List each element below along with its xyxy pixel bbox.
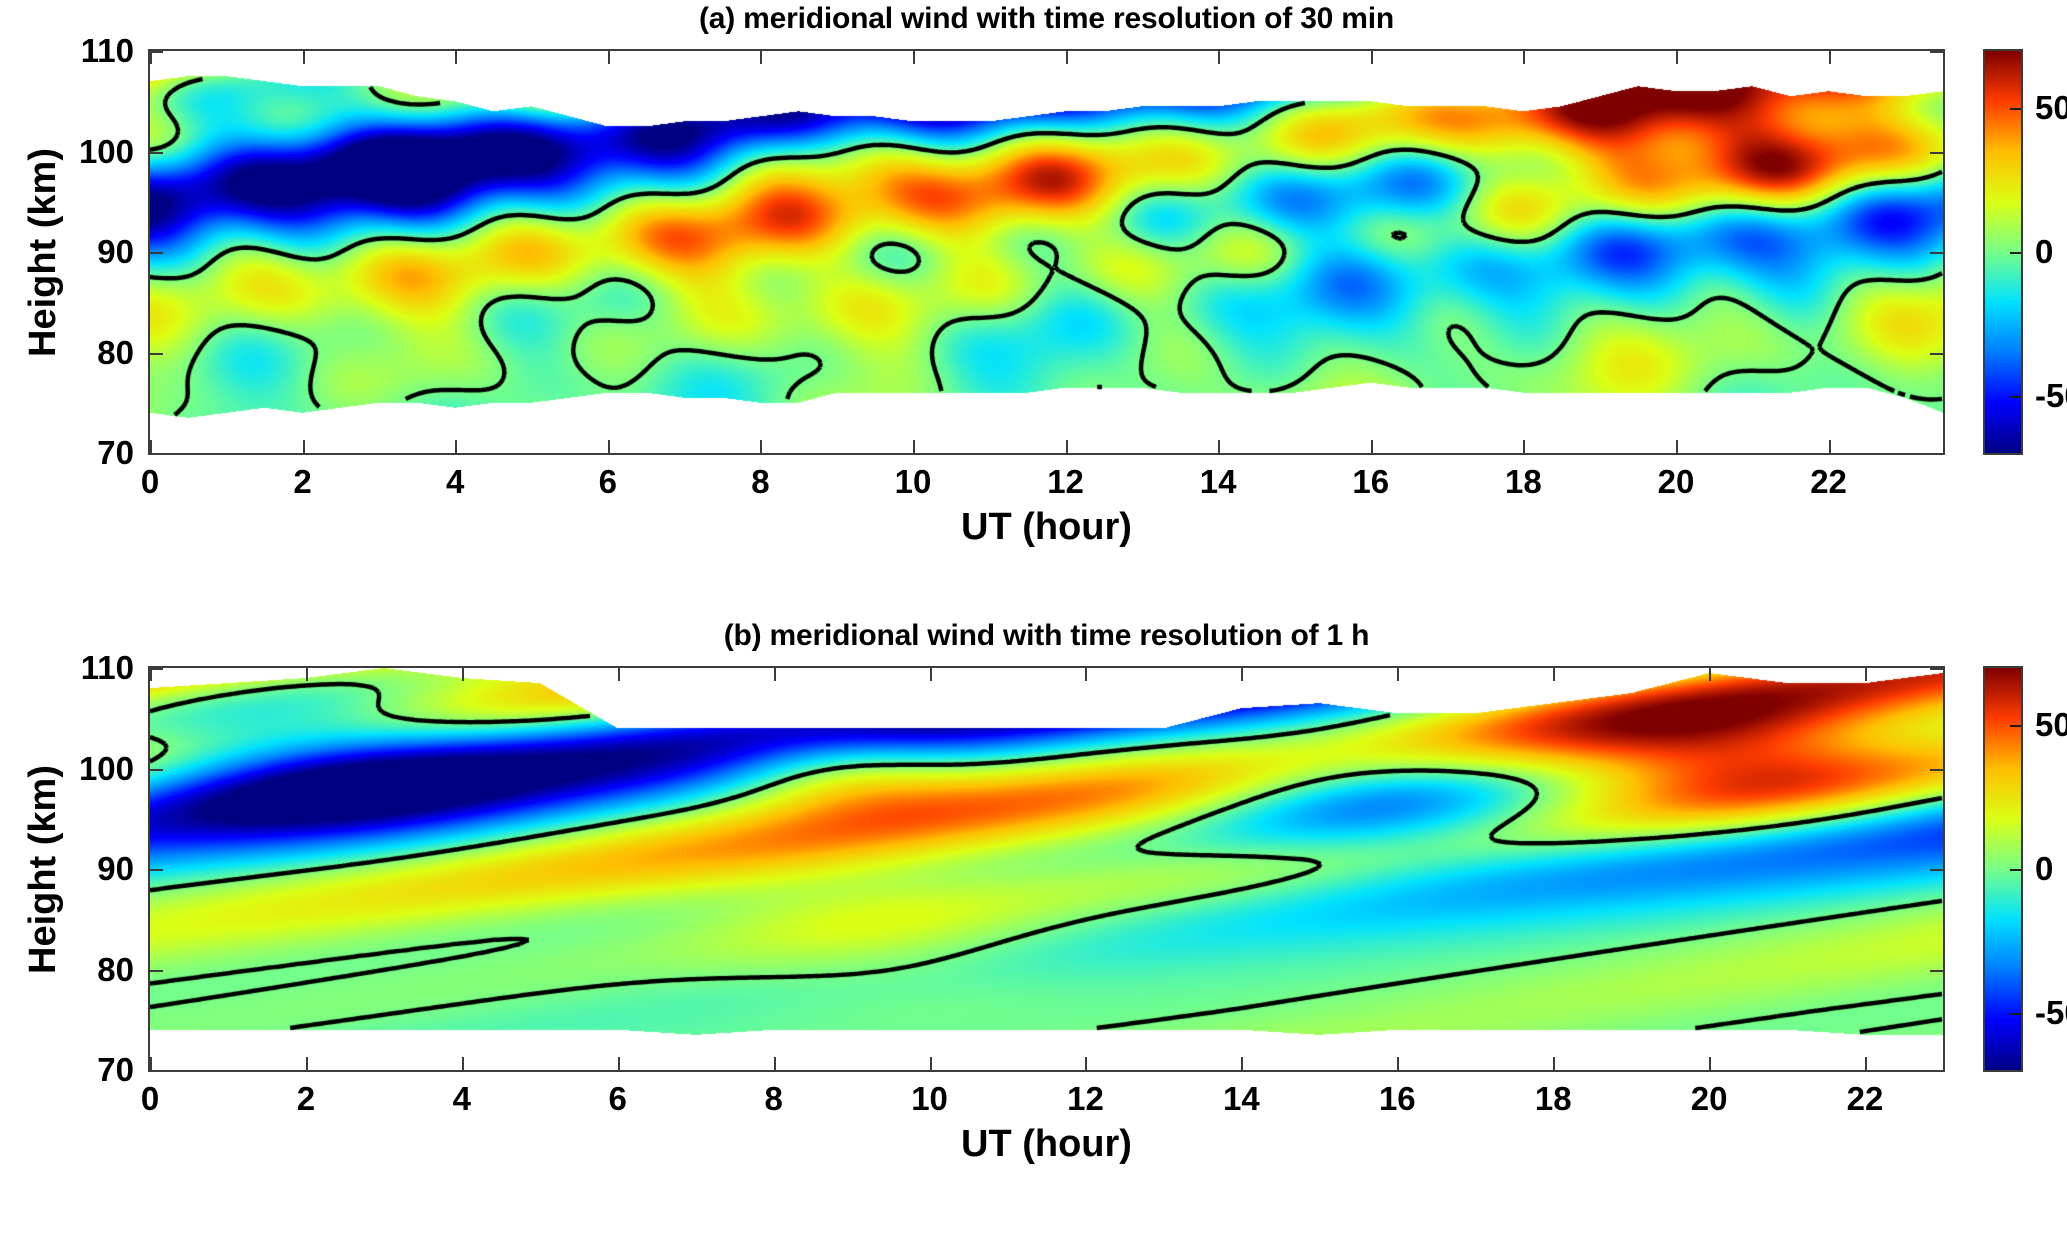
panel-b-yticklabel: 100 xyxy=(56,750,134,788)
colorbar-tick xyxy=(2010,396,2021,398)
colorbar-label: -50 xyxy=(2035,994,2067,1032)
panel-a-title: (a) meridional wind with time resolution… xyxy=(148,2,1945,36)
panel-b-xtick xyxy=(1865,1057,1867,1070)
panel-b-yticklabel: 90 xyxy=(56,850,134,888)
panel-b-xtick xyxy=(774,668,776,681)
panel-b-ytick xyxy=(150,1070,163,1072)
colorbar-tick xyxy=(2010,869,2021,871)
panel-a-yticklabel: 110 xyxy=(56,32,134,70)
panel-a-xtick xyxy=(455,440,457,453)
colorbar-label: -50 xyxy=(2035,377,2067,415)
panel-a-xticklabel: 16 xyxy=(1352,463,1389,501)
panel-a-xtick xyxy=(1523,51,1525,64)
panel-b-colorbar xyxy=(1983,666,2023,1072)
panel-a-xticklabel: 22 xyxy=(1810,463,1847,501)
panel-a-xtick xyxy=(608,440,610,453)
panel-b-xtick xyxy=(930,1057,932,1070)
panel-a-xticklabel: 14 xyxy=(1200,463,1237,501)
panel-a-xtick xyxy=(303,440,305,453)
panel-a-xticklabel: 0 xyxy=(141,463,159,501)
panel-a: (a) meridional wind with time resolution… xyxy=(0,0,2067,617)
panel-a-xlabel: UT (hour) xyxy=(148,506,1945,549)
panel-a-ytick xyxy=(1930,353,1943,355)
panel-b-ytick xyxy=(1930,668,1943,670)
panel-b-ytick xyxy=(1930,769,1943,771)
panel-b-plot-area xyxy=(148,666,1945,1072)
panel-a-xtick xyxy=(760,51,762,64)
panel-a-xtick xyxy=(1066,440,1068,453)
panel-b-xtick xyxy=(774,1057,776,1070)
panel-a-xtick xyxy=(1829,51,1831,64)
panel-b-xtick xyxy=(1085,1057,1087,1070)
panel-b-xtick xyxy=(618,668,620,681)
panel-a-xtick xyxy=(303,51,305,64)
panel-b-yticklabel: 80 xyxy=(56,951,134,989)
panel-a-xticklabel: 4 xyxy=(446,463,464,501)
panel-b-xtick xyxy=(1397,1057,1399,1070)
panel-b-xtick xyxy=(1553,1057,1555,1070)
panel-a-xtick xyxy=(1523,440,1525,453)
panel-a-xtick xyxy=(1829,440,1831,453)
panel-a-yticklabel: 70 xyxy=(56,434,134,472)
panel-b-ytick xyxy=(150,668,163,670)
panel-a-xtick xyxy=(455,51,457,64)
panel-a-xticklabel: 12 xyxy=(1047,463,1084,501)
figure-root: (a) meridional wind with time resolution… xyxy=(0,0,2067,1234)
panel-a-xticklabel: 6 xyxy=(599,463,617,501)
panel-b-xticklabel: 16 xyxy=(1379,1080,1416,1118)
panel-b-xticklabel: 2 xyxy=(297,1080,315,1118)
panel-a-ytick xyxy=(150,353,163,355)
colorbar-tick xyxy=(2010,725,2021,727)
panel-b-xticklabel: 4 xyxy=(453,1080,471,1118)
panel-a-xticklabel: 8 xyxy=(751,463,769,501)
panel-a-xtick xyxy=(1066,51,1068,64)
panel-a-ytick xyxy=(1930,453,1943,455)
panel-a-ytick xyxy=(150,252,163,254)
panel-a-xtick xyxy=(1218,51,1220,64)
panel-b-heatmap xyxy=(150,668,1943,1070)
colorbar-label: 50 xyxy=(2035,89,2067,127)
colorbar-label: 50 xyxy=(2035,706,2067,744)
panel-b-xticklabel: 22 xyxy=(1847,1080,1884,1118)
panel-b-xtick xyxy=(1085,668,1087,681)
panel-b-xticklabel: 8 xyxy=(764,1080,782,1118)
panel-b-yticklabel: 110 xyxy=(56,649,134,687)
panel-a-ytick xyxy=(150,453,163,455)
panel-b-xtick xyxy=(1709,668,1711,681)
panel-b-xtick xyxy=(306,668,308,681)
panel-a-yticklabel: 80 xyxy=(56,334,134,372)
panel-b-xtick xyxy=(930,668,932,681)
panel-b-xticklabel: 20 xyxy=(1691,1080,1728,1118)
colorbar-tick xyxy=(2010,1013,2021,1015)
panel-b-xticklabel: 18 xyxy=(1535,1080,1572,1118)
panel-b-xtick xyxy=(1397,668,1399,681)
panel-a-ytick xyxy=(1930,152,1943,154)
panel-a-ytick xyxy=(150,152,163,154)
panel-b-xtick xyxy=(462,1057,464,1070)
panel-a-xticklabel: 18 xyxy=(1505,463,1542,501)
panel-a-xtick xyxy=(1676,440,1678,453)
panel-b-xtick xyxy=(462,668,464,681)
panel-b-ytick xyxy=(150,869,163,871)
panel-b-ytick xyxy=(1930,970,1943,972)
panel-a-xticklabel: 10 xyxy=(895,463,932,501)
panel-b-xtick xyxy=(150,1057,152,1070)
panel-a-xtick xyxy=(150,440,152,453)
panel-a-xticklabel: 20 xyxy=(1658,463,1695,501)
panel-b-xtick xyxy=(1241,1057,1243,1070)
panel-b-ytick xyxy=(150,970,163,972)
panel-b-xticklabel: 12 xyxy=(1067,1080,1104,1118)
panel-a-colorbar xyxy=(1983,49,2023,455)
panel-b-xticklabel: 10 xyxy=(911,1080,948,1118)
panel-b: (b) meridional wind with time resolution… xyxy=(0,617,2067,1234)
panel-b-xticklabel: 6 xyxy=(609,1080,627,1118)
panel-a-xtick xyxy=(1371,51,1373,64)
panel-b-xlabel: UT (hour) xyxy=(148,1123,1945,1166)
panel-a-xtick xyxy=(1371,440,1373,453)
panel-a-ytick xyxy=(150,51,163,53)
colorbar-tick xyxy=(2010,108,2021,110)
panel-a-heatmap xyxy=(150,51,1943,453)
panel-a-plot-area xyxy=(148,49,1945,455)
panel-b-xtick xyxy=(1553,668,1555,681)
panel-a-yticklabel: 90 xyxy=(56,233,134,271)
panel-b-yticklabel: 70 xyxy=(56,1051,134,1089)
panel-a-xtick xyxy=(760,440,762,453)
panel-b-xtick xyxy=(618,1057,620,1070)
panel-b-ytick xyxy=(1930,1070,1943,1072)
panel-a-yticklabel: 100 xyxy=(56,133,134,171)
colorbar-label: 0 xyxy=(2035,233,2053,271)
colorbar-label: 0 xyxy=(2035,850,2053,888)
colorbar-tick xyxy=(2010,252,2021,254)
panel-b-ytick xyxy=(1930,869,1943,871)
panel-a-xtick xyxy=(1218,440,1220,453)
panel-a-xtick xyxy=(913,440,915,453)
panel-b-xtick xyxy=(306,1057,308,1070)
panel-a-xticklabel: 2 xyxy=(293,463,311,501)
panel-a-xtick xyxy=(1676,51,1678,64)
panel-b-xtick xyxy=(1865,668,1867,681)
panel-b-xtick xyxy=(1241,668,1243,681)
panel-b-ytick xyxy=(150,769,163,771)
panel-a-xtick xyxy=(913,51,915,64)
panel-a-ytick xyxy=(1930,51,1943,53)
panel-b-xticklabel: 14 xyxy=(1223,1080,1260,1118)
panel-b-xticklabel: 0 xyxy=(141,1080,159,1118)
panel-b-xtick xyxy=(1709,1057,1711,1070)
panel-b-title: (b) meridional wind with time resolution… xyxy=(148,619,1945,653)
panel-a-ytick xyxy=(1930,252,1943,254)
panel-a-xtick xyxy=(608,51,610,64)
